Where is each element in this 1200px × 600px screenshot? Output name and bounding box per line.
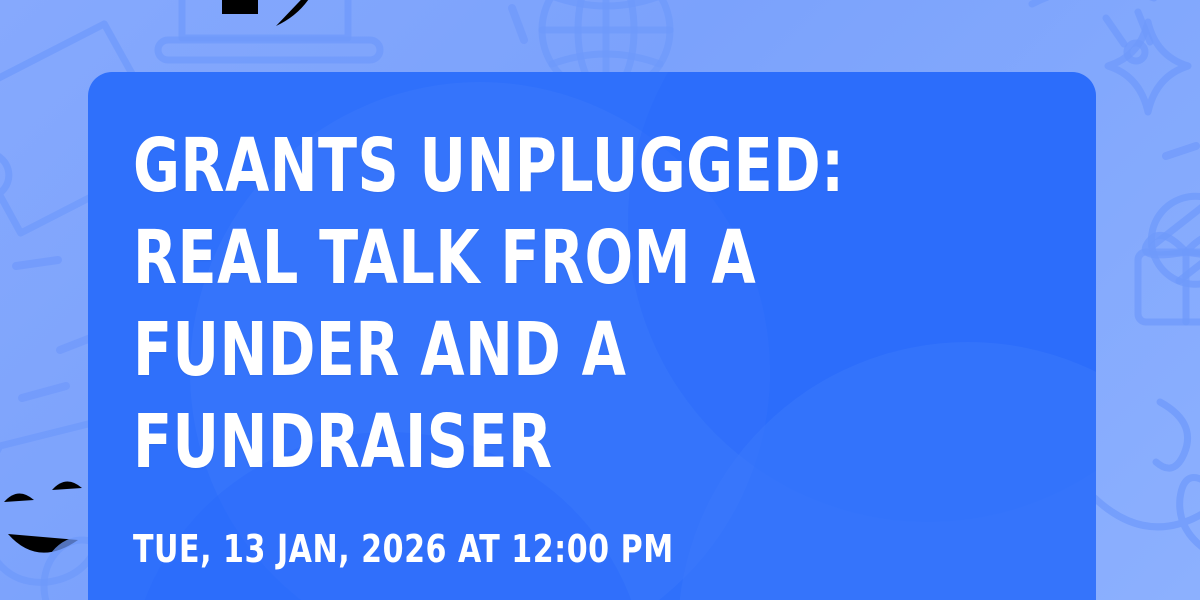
gift-box-icon — [1138, 235, 1200, 322]
event-title: Grants Unplugged: Real Talk from a Funde… — [133, 120, 922, 488]
sparkle-icon — [1108, 22, 1188, 112]
microphone-icon — [1134, 179, 1200, 337]
event-banner: Grants Unplugged: Real Talk from a Funde… — [0, 0, 1200, 600]
event-card: Grants Unplugged: Real Talk from a Funde… — [88, 72, 1096, 600]
laptop-presentation-icon — [158, 0, 380, 60]
award-medal-icon — [1020, 0, 1154, 61]
event-datetime: Tue, 13 Jan, 2026 at 12:00 PM — [133, 526, 941, 572]
card-content: Grants Unplugged: Real Talk from a Funde… — [88, 72, 1096, 572]
